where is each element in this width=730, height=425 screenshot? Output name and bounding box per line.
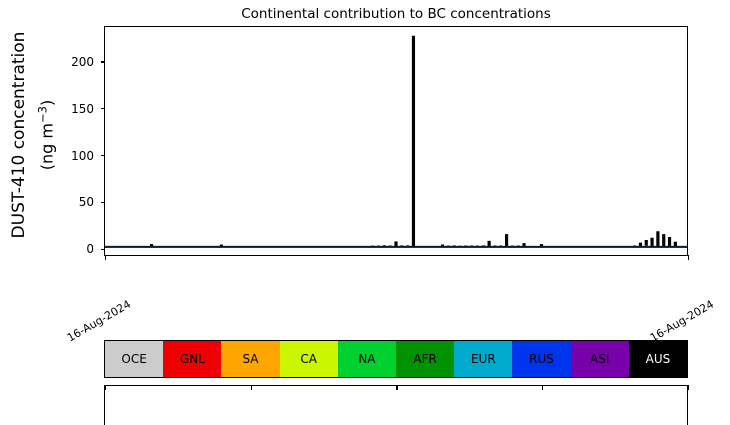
x-tick <box>688 385 689 390</box>
x-tick <box>542 385 543 390</box>
legend-item-eur[interactable]: EUR <box>454 341 512 377</box>
bar-aus <box>656 231 659 247</box>
y-tick-label: 0 <box>86 241 94 257</box>
bar-aus <box>505 234 508 246</box>
legend-item-sa[interactable]: SA <box>221 341 279 377</box>
y-axis-label-units-text: (ng m−3) <box>33 100 56 170</box>
bars-group <box>105 36 687 248</box>
legend-item-oce[interactable]: OCE <box>105 341 163 377</box>
legend-item-ca[interactable]: CA <box>280 341 338 377</box>
bar-aus <box>668 237 671 247</box>
x-tick <box>396 385 397 390</box>
y-units-exponent: −3 <box>35 106 49 123</box>
x-tick-start <box>105 255 106 260</box>
y-tick-label: 100 <box>71 148 94 164</box>
legend-label: ASI <box>590 352 609 366</box>
y-axis-label-units: (ng m−3) <box>33 22 57 248</box>
legend-label: CA <box>300 352 317 366</box>
y-units-suffix: ) <box>38 100 57 106</box>
figure-canvas: Continental contribution to BC concentra… <box>0 0 730 402</box>
x-tick-label-end: 16-Aug-2024 <box>648 298 717 346</box>
x-tick-end <box>688 255 689 260</box>
legend-label: EUR <box>471 352 496 366</box>
y-axis-label-primary: DUST-410 concentration <box>6 22 32 248</box>
y-tick-label: 50 <box>79 194 94 210</box>
bar-aus <box>394 241 397 246</box>
y-tick-label: 200 <box>71 54 94 70</box>
baseline-ribbon <box>105 246 687 248</box>
x-tick <box>105 385 106 390</box>
series-plot <box>105 27 687 255</box>
bar-aus <box>645 240 648 246</box>
bar-aus <box>412 36 415 247</box>
legend-label: SA <box>242 352 258 366</box>
secondary-plot-area <box>104 385 688 425</box>
y-units-prefix: (ng m <box>38 123 57 170</box>
legend-label: GNL <box>180 352 205 366</box>
bar-aus <box>650 238 653 247</box>
bar-aus <box>488 241 491 247</box>
legend-label: OCE <box>121 352 146 366</box>
page-title: Continental contribution to BC concentra… <box>104 6 688 22</box>
x-tick <box>251 385 252 390</box>
y-axis-label-primary-text: DUST-410 concentration <box>9 32 29 239</box>
legend-item-asi[interactable]: ASI <box>571 341 629 377</box>
legend-label: AUS <box>646 352 671 366</box>
legend-label: AFR <box>413 352 436 366</box>
legend-item-aus[interactable]: AUS <box>629 341 687 377</box>
x-tick-label-start: 16-Aug-2024 <box>65 298 134 346</box>
legend-item-na[interactable]: NA <box>338 341 396 377</box>
legend-item-rus[interactable]: RUS <box>512 341 570 377</box>
legend-item-afr[interactable]: AFR <box>396 341 454 377</box>
y-tick-label: 150 <box>71 101 94 117</box>
legend-strip: OCE GNL SA CA NA AFR EUR RUS ASI AUS <box>104 340 688 378</box>
legend-label: NA <box>358 352 375 366</box>
bar-aus <box>662 234 665 247</box>
main-plot-area: 0 50 100 150 200 16-Aug-2024 16-Aug-2024 <box>104 26 688 256</box>
bar-aus <box>639 243 642 246</box>
legend-item-gnl[interactable]: GNL <box>163 341 221 377</box>
legend-label: RUS <box>529 352 554 366</box>
